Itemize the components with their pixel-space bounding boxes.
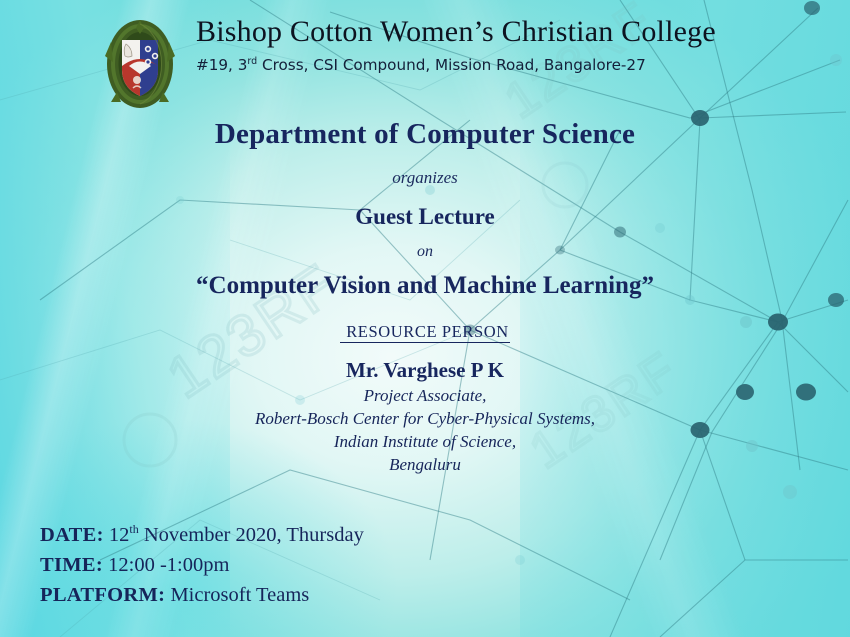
platform-label: PLATFORM: [40,584,165,606]
event-poster: 123RF 123RF 123RF [0,0,850,637]
affiliation-line: Project Associate, [0,384,850,407]
address-prefix: #19, 3 [196,56,247,74]
speaker-affiliation: Project Associate, Robert-Bosch Center f… [0,384,850,476]
affiliation-line: Bengaluru [0,453,850,476]
resource-person-label: RESOURCE PERSON [0,322,850,342]
detail-row-platform: PLATFORM: Microsoft Teams [40,580,364,610]
department-title: Department of Computer Science [0,118,850,151]
poster-header: Bishop Cotton Women’s Christian College … [0,14,850,106]
event-details: DATE: 12th November 2020, Thursday TIME:… [40,514,364,610]
address-ordinal-suffix: rd [247,56,257,67]
organizes-label: organizes [0,168,850,188]
detail-row-date: DATE: 12th November 2020, Thursday [40,514,364,550]
event-type-title: Guest Lecture [0,204,850,230]
college-crest-icon [103,18,177,110]
lecture-topic-title: “Computer Vision and Machine Learning” [0,272,850,300]
affiliation-line: Robert-Bosch Center for Cyber-Physical S… [0,407,850,430]
address-rest: Cross, CSI Compound, Mission Road, Banga… [257,56,646,74]
date-value-post: November 2020, Thursday [139,524,364,546]
time-label: TIME: [40,554,103,576]
affiliation-line: Indian Institute of Science, [0,430,850,453]
date-value-pre: 12 [104,524,130,546]
college-name: Bishop Cotton Women’s Christian College [196,14,710,50]
detail-row-time: TIME: 12:00 -1:00pm [40,550,364,580]
date-ordinal-suffix: th [129,522,138,536]
header-text-block: Bishop Cotton Women’s Christian College … [196,14,710,76]
resource-person-label-text: RESOURCE PERSON [340,322,510,343]
date-label: DATE: [40,524,104,546]
on-label: on [0,243,850,261]
time-value: 12:00 -1:00pm [103,554,229,576]
college-address: #19, 3rd Cross, CSI Compound, Mission Ro… [196,51,710,76]
platform-value: Microsoft Teams [165,584,309,606]
speaker-name: Mr. Varghese P K [0,358,850,383]
